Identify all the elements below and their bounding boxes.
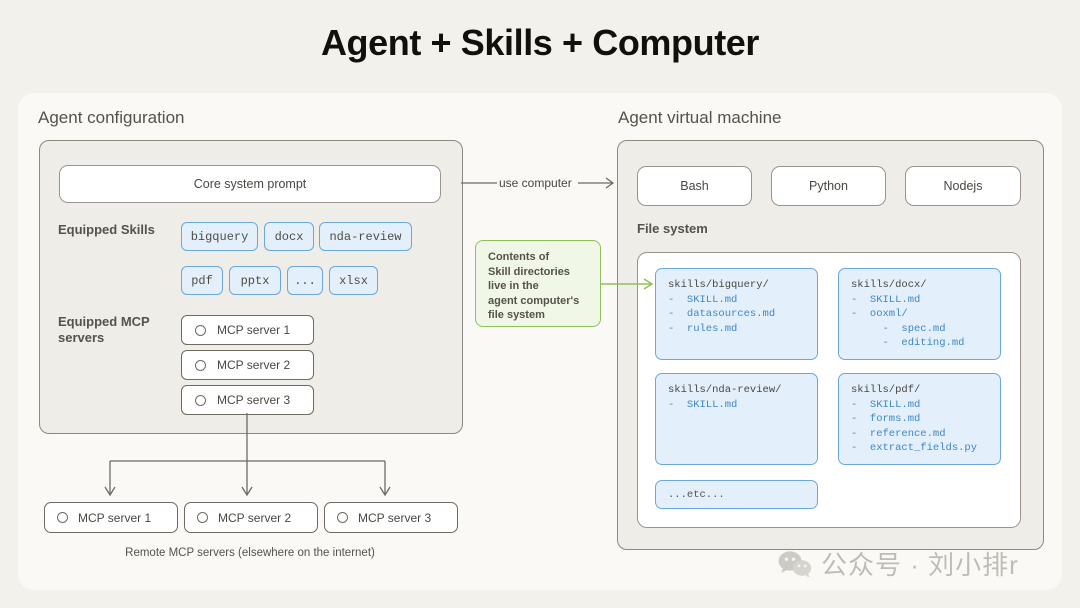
directory-file-entry: - reference.md [851, 427, 1000, 442]
remote-mcp-server-2-label: MCP server 2 [218, 511, 291, 525]
page-title: Agent + Skills + Computer [0, 22, 1080, 64]
server-circle-icon [195, 360, 206, 371]
remote-mcp-server-2[interactable]: MCP server 2 [184, 502, 318, 533]
directory-path: skills/nda-review/ [668, 383, 817, 398]
directory-file-entry: - spec.md [851, 322, 1000, 337]
equipped-mcp-server-2[interactable]: MCP server 2 [181, 350, 314, 380]
skill-chip-docx[interactable]: docx [264, 222, 314, 251]
skill-chip-xlsx[interactable]: xlsx [329, 266, 378, 295]
runtime-python[interactable]: Python [771, 166, 886, 206]
directory-card-bigquery[interactable]: skills/bigquery/- SKILL.md- datasources.… [655, 268, 818, 360]
file-system-label: File system [637, 221, 708, 236]
equipped-mcp-server-3[interactable]: MCP server 3 [181, 385, 314, 415]
server-circle-icon [337, 512, 348, 523]
server-circle-icon [57, 512, 68, 523]
directory-card-pdf[interactable]: skills/pdf/- SKILL.md- forms.md- referen… [838, 373, 1001, 465]
server-circle-icon [195, 325, 206, 336]
directory-file-entry: - forms.md [851, 412, 1000, 427]
directory-path: skills/pdf/ [851, 383, 1000, 398]
directory-file-entry: - editing.md [851, 336, 1000, 351]
equipped-mcp-server-1-label: MCP server 1 [217, 323, 290, 337]
use-computer-label: use computer [499, 176, 572, 190]
remote-mcp-server-3[interactable]: MCP server 3 [324, 502, 458, 533]
directory-card-etc[interactable]: ...etc... [655, 480, 818, 509]
directory-file-entry: - SKILL.md [851, 293, 1000, 308]
directory-file-entry: - SKILL.md [851, 398, 1000, 413]
equipped-mcp-server-2-label: MCP server 2 [217, 358, 290, 372]
equipped-skills-label: Equipped Skills [58, 222, 163, 238]
directory-file-entry: - rules.md [668, 322, 817, 337]
directory-path: skills/docx/ [851, 278, 1000, 293]
skill-chip-pdf[interactable]: pdf [181, 266, 223, 295]
directory-file-entry: - SKILL.md [668, 293, 817, 308]
equipped-mcp-server-1[interactable]: MCP server 1 [181, 315, 314, 345]
skill-chip-nda-review[interactable]: nda-review [319, 222, 412, 251]
skill-chip-more[interactable]: ... [287, 266, 323, 295]
skill-directories-callout: Contents of Skill directories live in th… [475, 240, 601, 327]
server-circle-icon [197, 512, 208, 523]
watermark-text: 公众号 · 刘小排r [821, 545, 1019, 582]
remote-mcp-server-1[interactable]: MCP server 1 [44, 502, 178, 533]
equipped-mcp-server-3-label: MCP server 3 [217, 393, 290, 407]
directory-file-entry: - datasources.md [668, 307, 817, 322]
directory-path: skills/bigquery/ [668, 278, 817, 293]
skill-chip-bigquery[interactable]: bigquery [181, 222, 258, 251]
wechat-icon [778, 550, 812, 578]
equipped-mcp-servers-label: Equipped MCP servers [58, 314, 163, 346]
remote-mcp-server-3-label: MCP server 3 [358, 511, 431, 525]
core-system-prompt-box: Core system prompt [59, 165, 441, 203]
server-circle-icon [195, 395, 206, 406]
watermark: 公众号 · 刘小排r [778, 545, 1019, 582]
directory-file-entry: - ooxml/ [851, 307, 1000, 322]
agent-configuration-heading: Agent configuration [38, 108, 185, 128]
directory-file-entry: - SKILL.md [668, 398, 817, 413]
runtime-nodejs[interactable]: Nodejs [905, 166, 1021, 206]
directory-card-nda-review[interactable]: skills/nda-review/- SKILL.md [655, 373, 818, 465]
agent-virtual-machine-heading: Agent virtual machine [618, 108, 781, 128]
directory-card-docx[interactable]: skills/docx/- SKILL.md- ooxml/ - spec.md… [838, 268, 1001, 360]
skill-chip-pptx[interactable]: pptx [229, 266, 281, 295]
directory-file-entry: - extract_fields.py [851, 441, 1000, 456]
runtime-bash[interactable]: Bash [637, 166, 752, 206]
remote-mcp-server-1-label: MCP server 1 [78, 511, 151, 525]
remote-servers-caption: Remote MCP servers (elsewhere on the int… [44, 547, 456, 559]
